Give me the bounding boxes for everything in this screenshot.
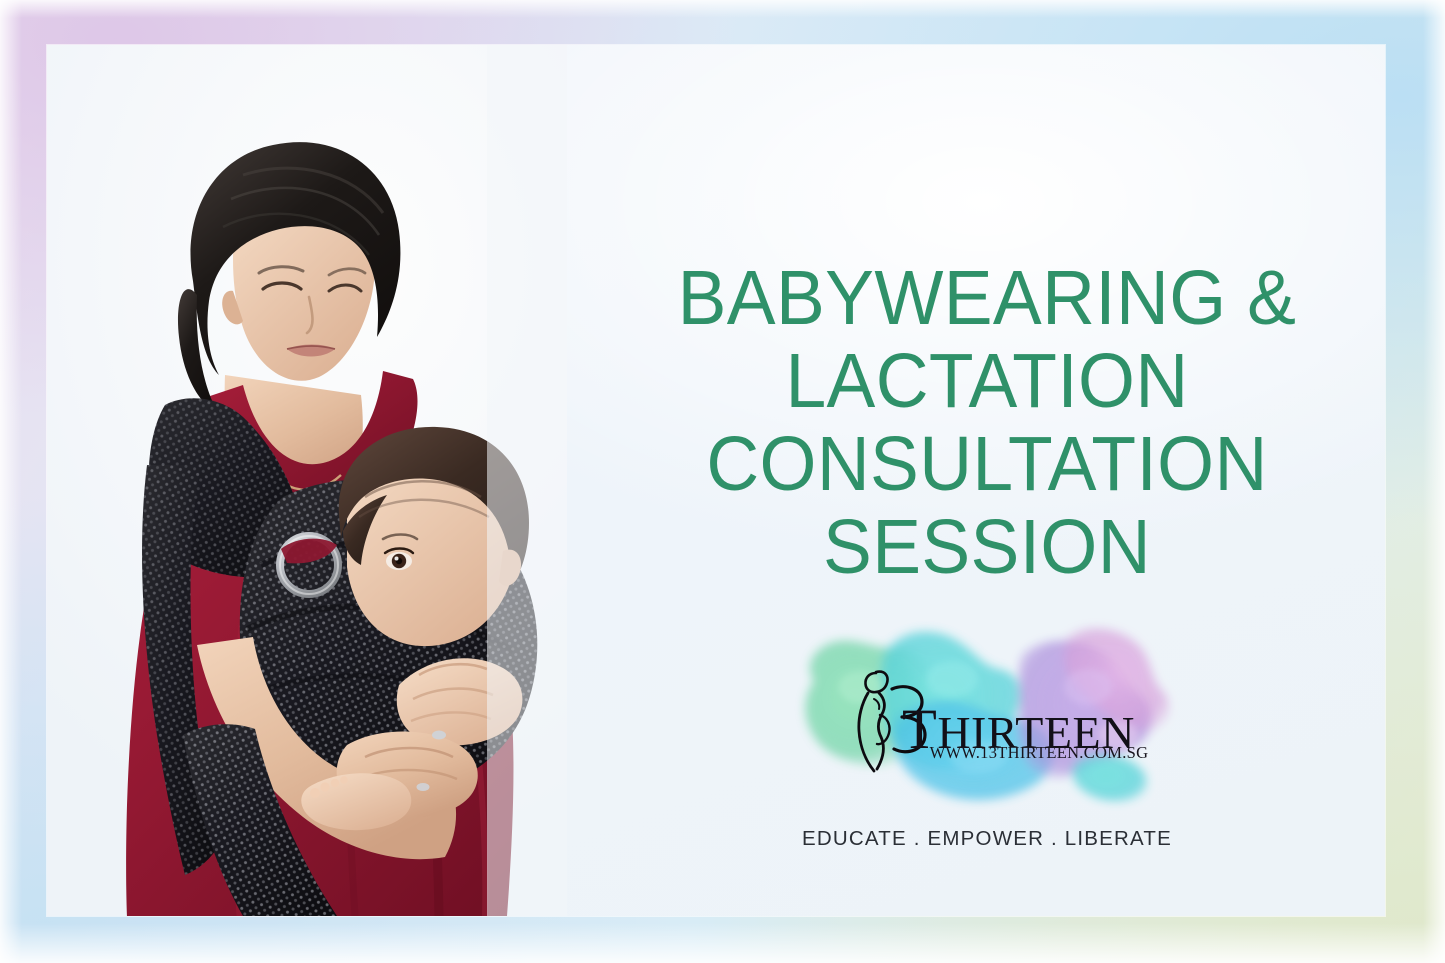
brand-tagline: EDUCATE . EMPOWER . LIBERATE xyxy=(737,827,1237,851)
poster-canvas: BABYWEARING & LACTATION CONSULTATION SES… xyxy=(0,0,1445,963)
brand-logo: THIRTEEN WWW.13THIRTEEN.COM.SG xyxy=(782,617,1192,813)
page-title: BABYWEARING & LACTATION CONSULTATION SES… xyxy=(626,257,1348,590)
brand-url: WWW.13THIRTEEN.COM.SG xyxy=(904,743,1174,763)
mother-and-baby-photo xyxy=(47,45,567,916)
photo-illustration xyxy=(47,45,567,916)
poster-card: BABYWEARING & LACTATION CONSULTATION SES… xyxy=(47,45,1385,916)
